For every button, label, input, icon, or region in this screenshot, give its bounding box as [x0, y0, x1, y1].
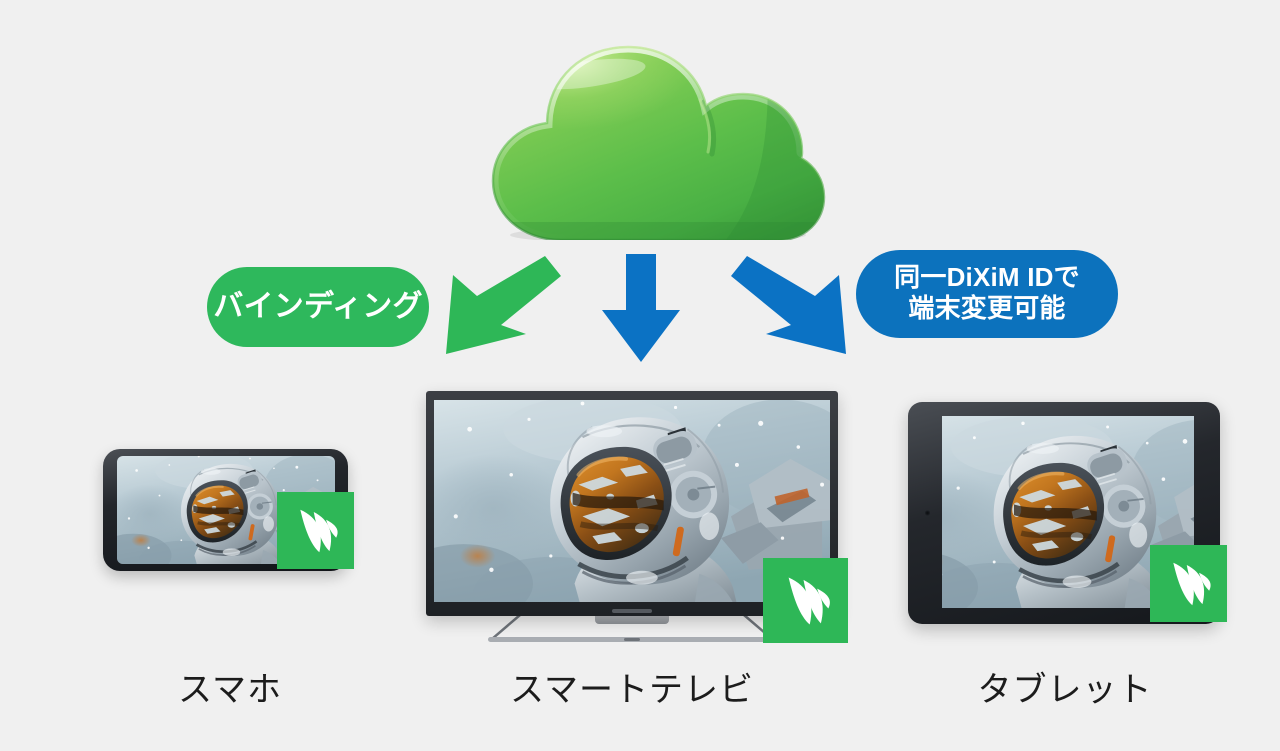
arrow-to-tv-icon: [596, 252, 686, 364]
caption-smart-tv: スマートテレビ: [432, 662, 832, 711]
smartphone-speaker: [213, 450, 239, 454]
dixim-logo-badge-tablet: [1150, 545, 1227, 622]
caption-smartphone: スマホ: [105, 662, 355, 711]
dixim-logo-icon: [1161, 556, 1217, 612]
caption-tablet: タブレット: [915, 662, 1215, 711]
tablet-camera-icon: [925, 511, 930, 516]
arrow-to-tablet-icon: [728, 252, 848, 362]
badge-dixim-id-text: 同一DiXiM IDで 端末変更可能: [894, 262, 1080, 323]
dixim-logo-icon: [775, 570, 837, 632]
diagram-canvas: バインディング 同一DiXiM IDで 端末変更可能: [0, 0, 1280, 751]
badge-binding-label: バインディング: [213, 289, 422, 324]
badge-binding: バインディング: [207, 267, 429, 347]
tv-brand-strip: [612, 609, 652, 613]
badge-dixim-id-line1: 同一DiXiM IDで: [894, 262, 1080, 293]
dixim-logo-badge-smartphone: [277, 492, 354, 569]
arrow-to-phone-icon: [444, 252, 564, 362]
dixim-logo-icon: [288, 503, 344, 559]
badge-dixim-id: 同一DiXiM IDで 端末変更可能: [856, 250, 1118, 338]
dixim-logo-badge-tv: [763, 558, 848, 643]
badge-dixim-id-line2: 端末変更可能: [894, 293, 1080, 324]
cloud-icon: [468, 44, 828, 240]
